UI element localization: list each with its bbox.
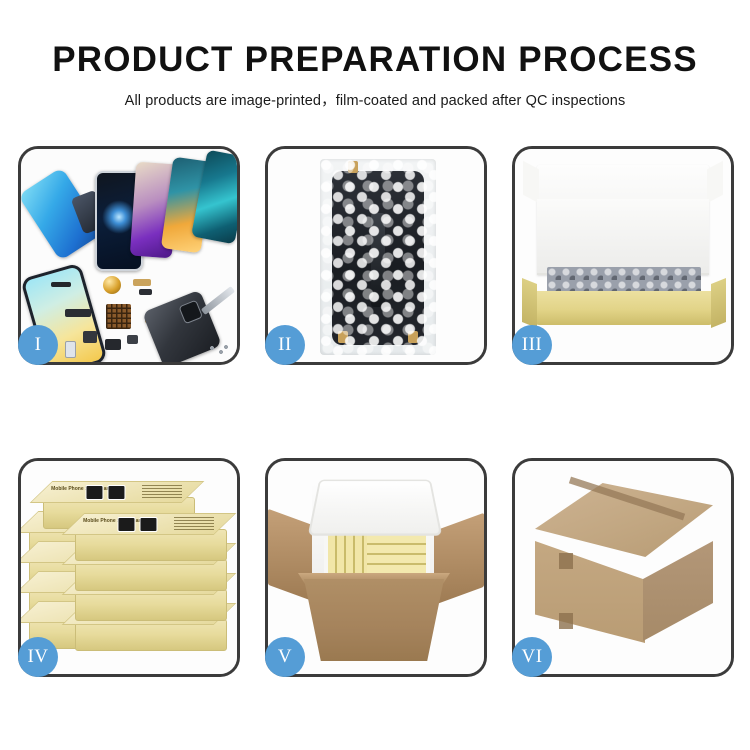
page-header: PRODUCT PREPARATION PROCESS All products… xyxy=(0,0,750,110)
screws-group xyxy=(209,345,229,355)
process-step-4[interactable]: Mobile Phone Spare Parts Mobile Phone Sp… xyxy=(18,458,240,677)
box-phone-image-a2 xyxy=(117,517,135,532)
carton-body xyxy=(304,579,444,661)
step-4-image: Mobile Phone Spare Parts Mobile Phone Sp… xyxy=(21,461,237,674)
box-phone-image-a1 xyxy=(85,485,103,500)
stacked-box-4 xyxy=(75,589,227,621)
carton-tape-tab-bottom xyxy=(559,613,573,629)
step-2-image xyxy=(268,149,484,362)
process-step-grid: I II xyxy=(18,146,734,677)
box-stack: Mobile Phone Spare Parts Mobile Phone Sp… xyxy=(27,475,232,665)
step-badge-3: III xyxy=(512,325,552,365)
small-part-1 xyxy=(51,282,71,287)
stacked-box-2: Mobile Phone Spare Parts xyxy=(75,529,227,561)
step-5-image xyxy=(268,461,484,674)
stacked-box-5 xyxy=(75,619,227,651)
yellow-kraft-box xyxy=(535,291,713,325)
bubble-wrap-bag xyxy=(320,159,436,355)
stacked-box-3 xyxy=(75,559,227,591)
step-6-image xyxy=(515,461,731,674)
step-badge-4: IV xyxy=(18,637,58,677)
phone-screen-blue-adhesive xyxy=(21,167,104,261)
small-part-2 xyxy=(133,279,151,286)
foam-lid-open xyxy=(308,480,443,536)
step-badge-2: II xyxy=(265,325,305,365)
step-1-image xyxy=(21,149,237,362)
step-badge-6: VI xyxy=(512,637,552,677)
small-part-6 xyxy=(105,339,121,350)
box-foam-sheet xyxy=(537,199,709,273)
page-title: PRODUCT PREPARATION PROCESS xyxy=(0,0,750,79)
box-label-text-1: Mobile Phone Spare Parts xyxy=(51,486,113,492)
box-spec-lines-1 xyxy=(142,485,182,499)
small-part-8 xyxy=(65,341,76,358)
box-lid-face-2: Mobile Phone Spare Parts xyxy=(62,513,237,535)
box-lid-face-1: Mobile Phone Spare Parts xyxy=(30,481,205,503)
sealed-carton-front xyxy=(535,541,645,643)
process-step-6[interactable]: VI xyxy=(512,458,734,677)
process-step-5[interactable]: V xyxy=(265,458,487,677)
repair-tool xyxy=(201,286,235,315)
chip-grid-part xyxy=(106,304,131,329)
process-step-2[interactable]: II xyxy=(265,146,487,365)
step-3-image xyxy=(515,149,731,362)
small-part-5 xyxy=(83,331,97,343)
sealed-carton-side xyxy=(643,541,713,641)
process-step-1[interactable]: I xyxy=(18,146,240,365)
box-label-text-2: Mobile Phone Spare Parts xyxy=(83,518,145,524)
speaker-coil-part xyxy=(103,276,121,294)
box-phone-image-b1 xyxy=(107,485,125,500)
box-spec-lines-2 xyxy=(174,517,214,531)
box-phone-image-b2 xyxy=(139,517,157,532)
process-step-3[interactable]: III xyxy=(512,146,734,365)
small-part-3 xyxy=(65,309,91,317)
product-preparation-page: PRODUCT PREPARATION PROCESS All products… xyxy=(0,0,750,750)
page-subtitle: All products are image-printed，film-coat… xyxy=(0,79,750,110)
small-part-9 xyxy=(139,289,152,295)
step-badge-1: I xyxy=(18,325,58,365)
bubble-texture-layer-2 xyxy=(320,159,436,355)
small-part-7 xyxy=(127,335,138,344)
carton-tape-tab-top xyxy=(559,553,573,569)
step-badge-5: V xyxy=(265,637,305,677)
